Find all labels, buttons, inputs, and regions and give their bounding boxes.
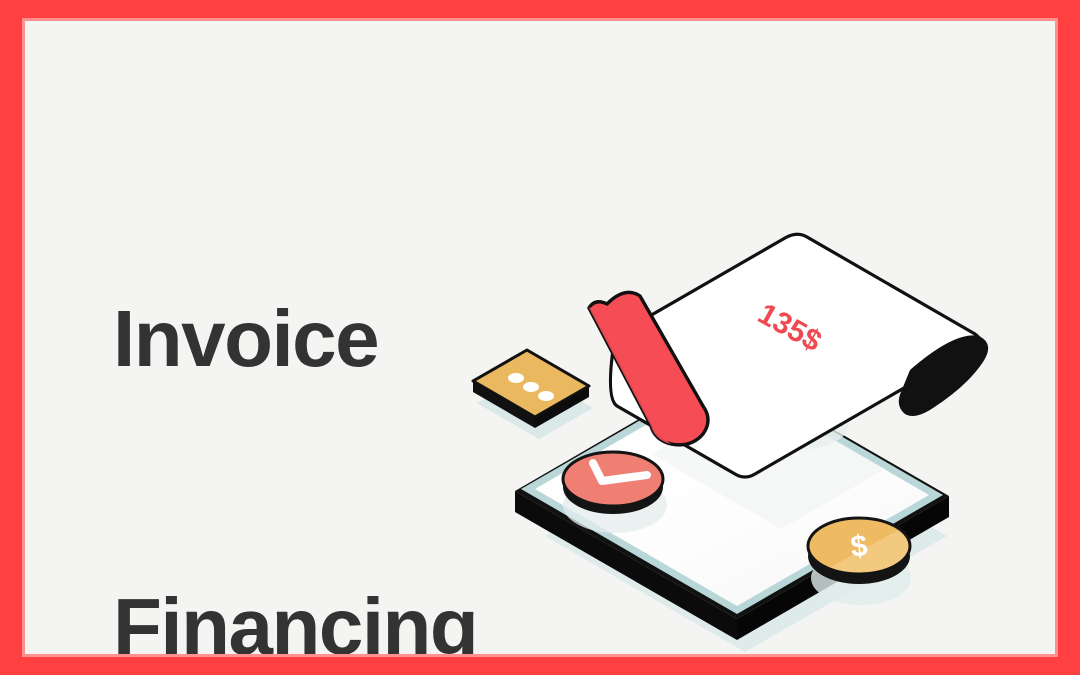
- poster-canvas: Invoice Financing Guide: [0, 0, 1080, 675]
- poster-content-area: Invoice Financing Guide: [25, 21, 1055, 654]
- page-title: Invoice Financing Guide: [113, 99, 477, 654]
- isometric-invoice-phone-illustration: $ $: [455, 186, 1055, 654]
- clock-icon[interactable]: [563, 452, 667, 533]
- title-line-1: Invoice: [113, 291, 477, 387]
- ellipsis-card[interactable]: [473, 350, 593, 439]
- coin-bottom[interactable]: $: [808, 518, 911, 605]
- title-line-2: Financing: [113, 579, 477, 654]
